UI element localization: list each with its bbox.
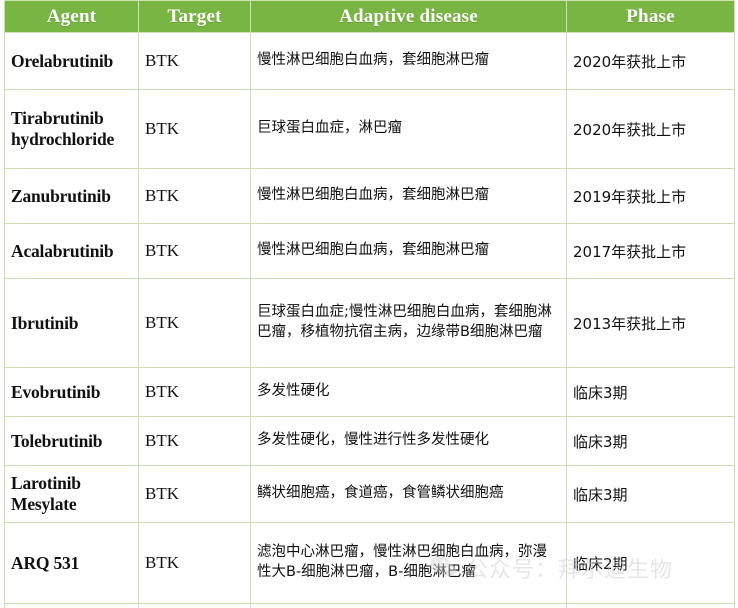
table-row: ARQ 531BTK滤泡中心淋巴瘤，慢性淋巴细胞白血病，弥漫性大B-细胞淋巴瘤，…: [5, 523, 735, 604]
cell-target: BTK: [139, 466, 251, 523]
cell-target: BTK: [139, 523, 251, 604]
cell-disease: 多发性硬化: [251, 368, 567, 417]
cell-disease: 系统性红斑狼疮，类风湿关节炎: [251, 604, 567, 608]
cell-phase: 临床2期: [567, 523, 735, 604]
cell-target: BTK: [139, 279, 251, 368]
cell-agent: ARQ 531: [5, 523, 139, 604]
cell-agent: Ibrutinib: [5, 279, 139, 368]
cell-agent: Acalabrutinib: [5, 224, 139, 279]
table-row: IbrutinibBTK巨球蛋白血症;慢性淋巴细胞白血病，套细胞淋巴瘤，移植物抗…: [5, 279, 735, 368]
cell-agent: Larotinib Mesylate: [5, 466, 139, 523]
cell-target: BTK: [139, 33, 251, 90]
cell-disease: 巨球蛋白血症，淋巴瘤: [251, 90, 567, 169]
cell-disease: 慢性淋巴细胞白血病，套细胞淋巴瘤: [251, 33, 567, 90]
cell-disease: 巨球蛋白血症;慢性淋巴细胞白血病，套细胞淋巴瘤，移植物抗宿主病，边缘带B细胞淋巴…: [251, 279, 567, 368]
table-row: ElsubrutinibBcr-Abl系统性红斑狼疮，类风湿关节炎临床2期: [5, 604, 735, 608]
cell-target: BTK: [139, 90, 251, 169]
cell-phase: 2019年获批上市: [567, 169, 735, 224]
table-row: EvobrutinibBTK多发性硬化临床3期: [5, 368, 735, 417]
column-header-agent: Agent: [5, 1, 139, 33]
cell-disease: 滤泡中心淋巴瘤，慢性淋巴细胞白血病，弥漫性大B-细胞淋巴瘤，B-细胞淋巴瘤: [251, 523, 567, 604]
column-header-phase: Phase: [567, 1, 735, 33]
table-row: TolebrutinibBTK多发性硬化，慢性进行性多发性硬化临床3期: [5, 417, 735, 466]
cell-phase: 2017年获批上市: [567, 224, 735, 279]
cell-agent: Tolebrutinib: [5, 417, 139, 466]
cell-target: BTK: [139, 169, 251, 224]
cell-phase: 2020年获批上市: [567, 90, 735, 169]
table-row: AcalabrutinibBTK慢性淋巴细胞白血病，套细胞淋巴瘤2017年获批上…: [5, 224, 735, 279]
cell-target: BTK: [139, 224, 251, 279]
cell-phase: 2013年获批上市: [567, 279, 735, 368]
cell-agent: Orelabrutinib: [5, 33, 139, 90]
cell-phase: 临床3期: [567, 368, 735, 417]
table-header: Agent Target Adaptive disease Phase: [5, 1, 735, 33]
cell-target: BTK: [139, 417, 251, 466]
btk-inhibitor-table: Agent Target Adaptive disease Phase Orel…: [4, 0, 735, 608]
cell-phase: 临床3期: [567, 417, 735, 466]
cell-agent: Elsubrutinib: [5, 604, 139, 608]
header-row: Agent Target Adaptive disease Phase: [5, 1, 735, 33]
cell-phase: 临床2期: [567, 604, 735, 608]
cell-agent: Evobrutinib: [5, 368, 139, 417]
table-row: ZanubrutinibBTK慢性淋巴细胞白血病，套细胞淋巴瘤2019年获批上市: [5, 169, 735, 224]
cell-agent: Zanubrutinib: [5, 169, 139, 224]
cell-phase: 临床3期: [567, 466, 735, 523]
cell-disease: 慢性淋巴细胞白血病，套细胞淋巴瘤: [251, 224, 567, 279]
cell-target: BTK: [139, 368, 251, 417]
cell-disease: 鳞状细胞癌，食道癌，食管鳞状细胞癌: [251, 466, 567, 523]
table-row: Larotinib MesylateBTK鳞状细胞癌，食道癌，食管鳞状细胞癌临床…: [5, 466, 735, 523]
drug-table-container: Agent Target Adaptive disease Phase Orel…: [0, 0, 738, 608]
cell-target: Bcr-Abl: [139, 604, 251, 608]
column-header-disease: Adaptive disease: [251, 1, 567, 33]
table-row: OrelabrutinibBTK慢性淋巴细胞白血病，套细胞淋巴瘤2020年获批上…: [5, 33, 735, 90]
cell-disease: 多发性硬化，慢性进行性多发性硬化: [251, 417, 567, 466]
cell-agent: Tirabrutinib hydrochloride: [5, 90, 139, 169]
table-row: Tirabrutinib hydrochlorideBTK巨球蛋白血症，淋巴瘤2…: [5, 90, 735, 169]
cell-phase: 2020年获批上市: [567, 33, 735, 90]
column-header-target: Target: [139, 1, 251, 33]
table-body: OrelabrutinibBTK慢性淋巴细胞白血病，套细胞淋巴瘤2020年获批上…: [5, 33, 735, 608]
cell-disease: 慢性淋巴细胞白血病，套细胞淋巴瘤: [251, 169, 567, 224]
